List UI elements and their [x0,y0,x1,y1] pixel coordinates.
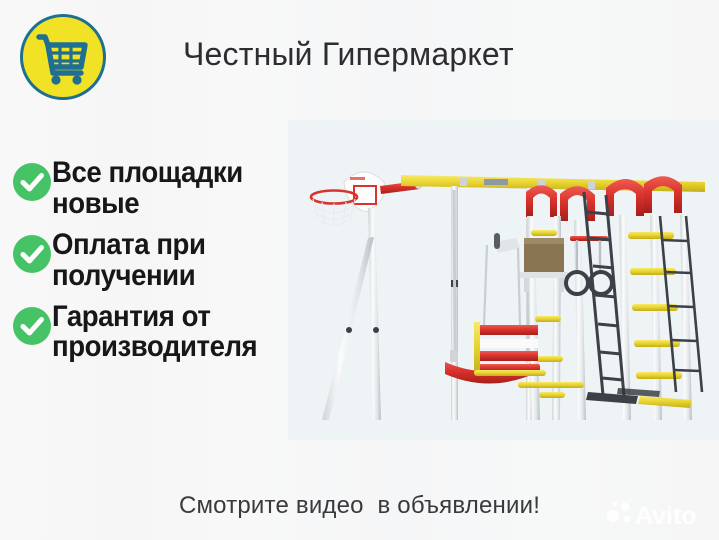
store-logo-badge [20,14,106,100]
check-circle-icon [12,162,52,202]
benefit-item: Все площадки новые [8,158,304,220]
benefit-item: Гарантия от производителя [8,302,304,364]
benefit-item: Оплата при получении [8,230,304,292]
store-title: Честный Гипермаркет [183,36,514,73]
header: Честный Гипермаркет [0,0,719,118]
avito-watermark: Avito [605,498,709,530]
advertisement-card: Честный Гипермаркет Все площадки новые О… [0,0,719,540]
playground-swing-set-photo [288,120,719,440]
avito-wordmark: Avito [635,502,697,530]
benefit-label: Гарантия от производителя [52,302,284,364]
benefit-label: Все площадки новые [52,158,284,220]
check-circle-icon [12,234,52,274]
benefit-label: Оплата при получении [52,230,284,292]
avito-dots-icon [607,501,630,522]
shopping-cart-icon [23,17,103,97]
benefits-list: Все площадки новые Оплата при получении … [8,158,304,373]
check-circle-icon [12,306,52,346]
